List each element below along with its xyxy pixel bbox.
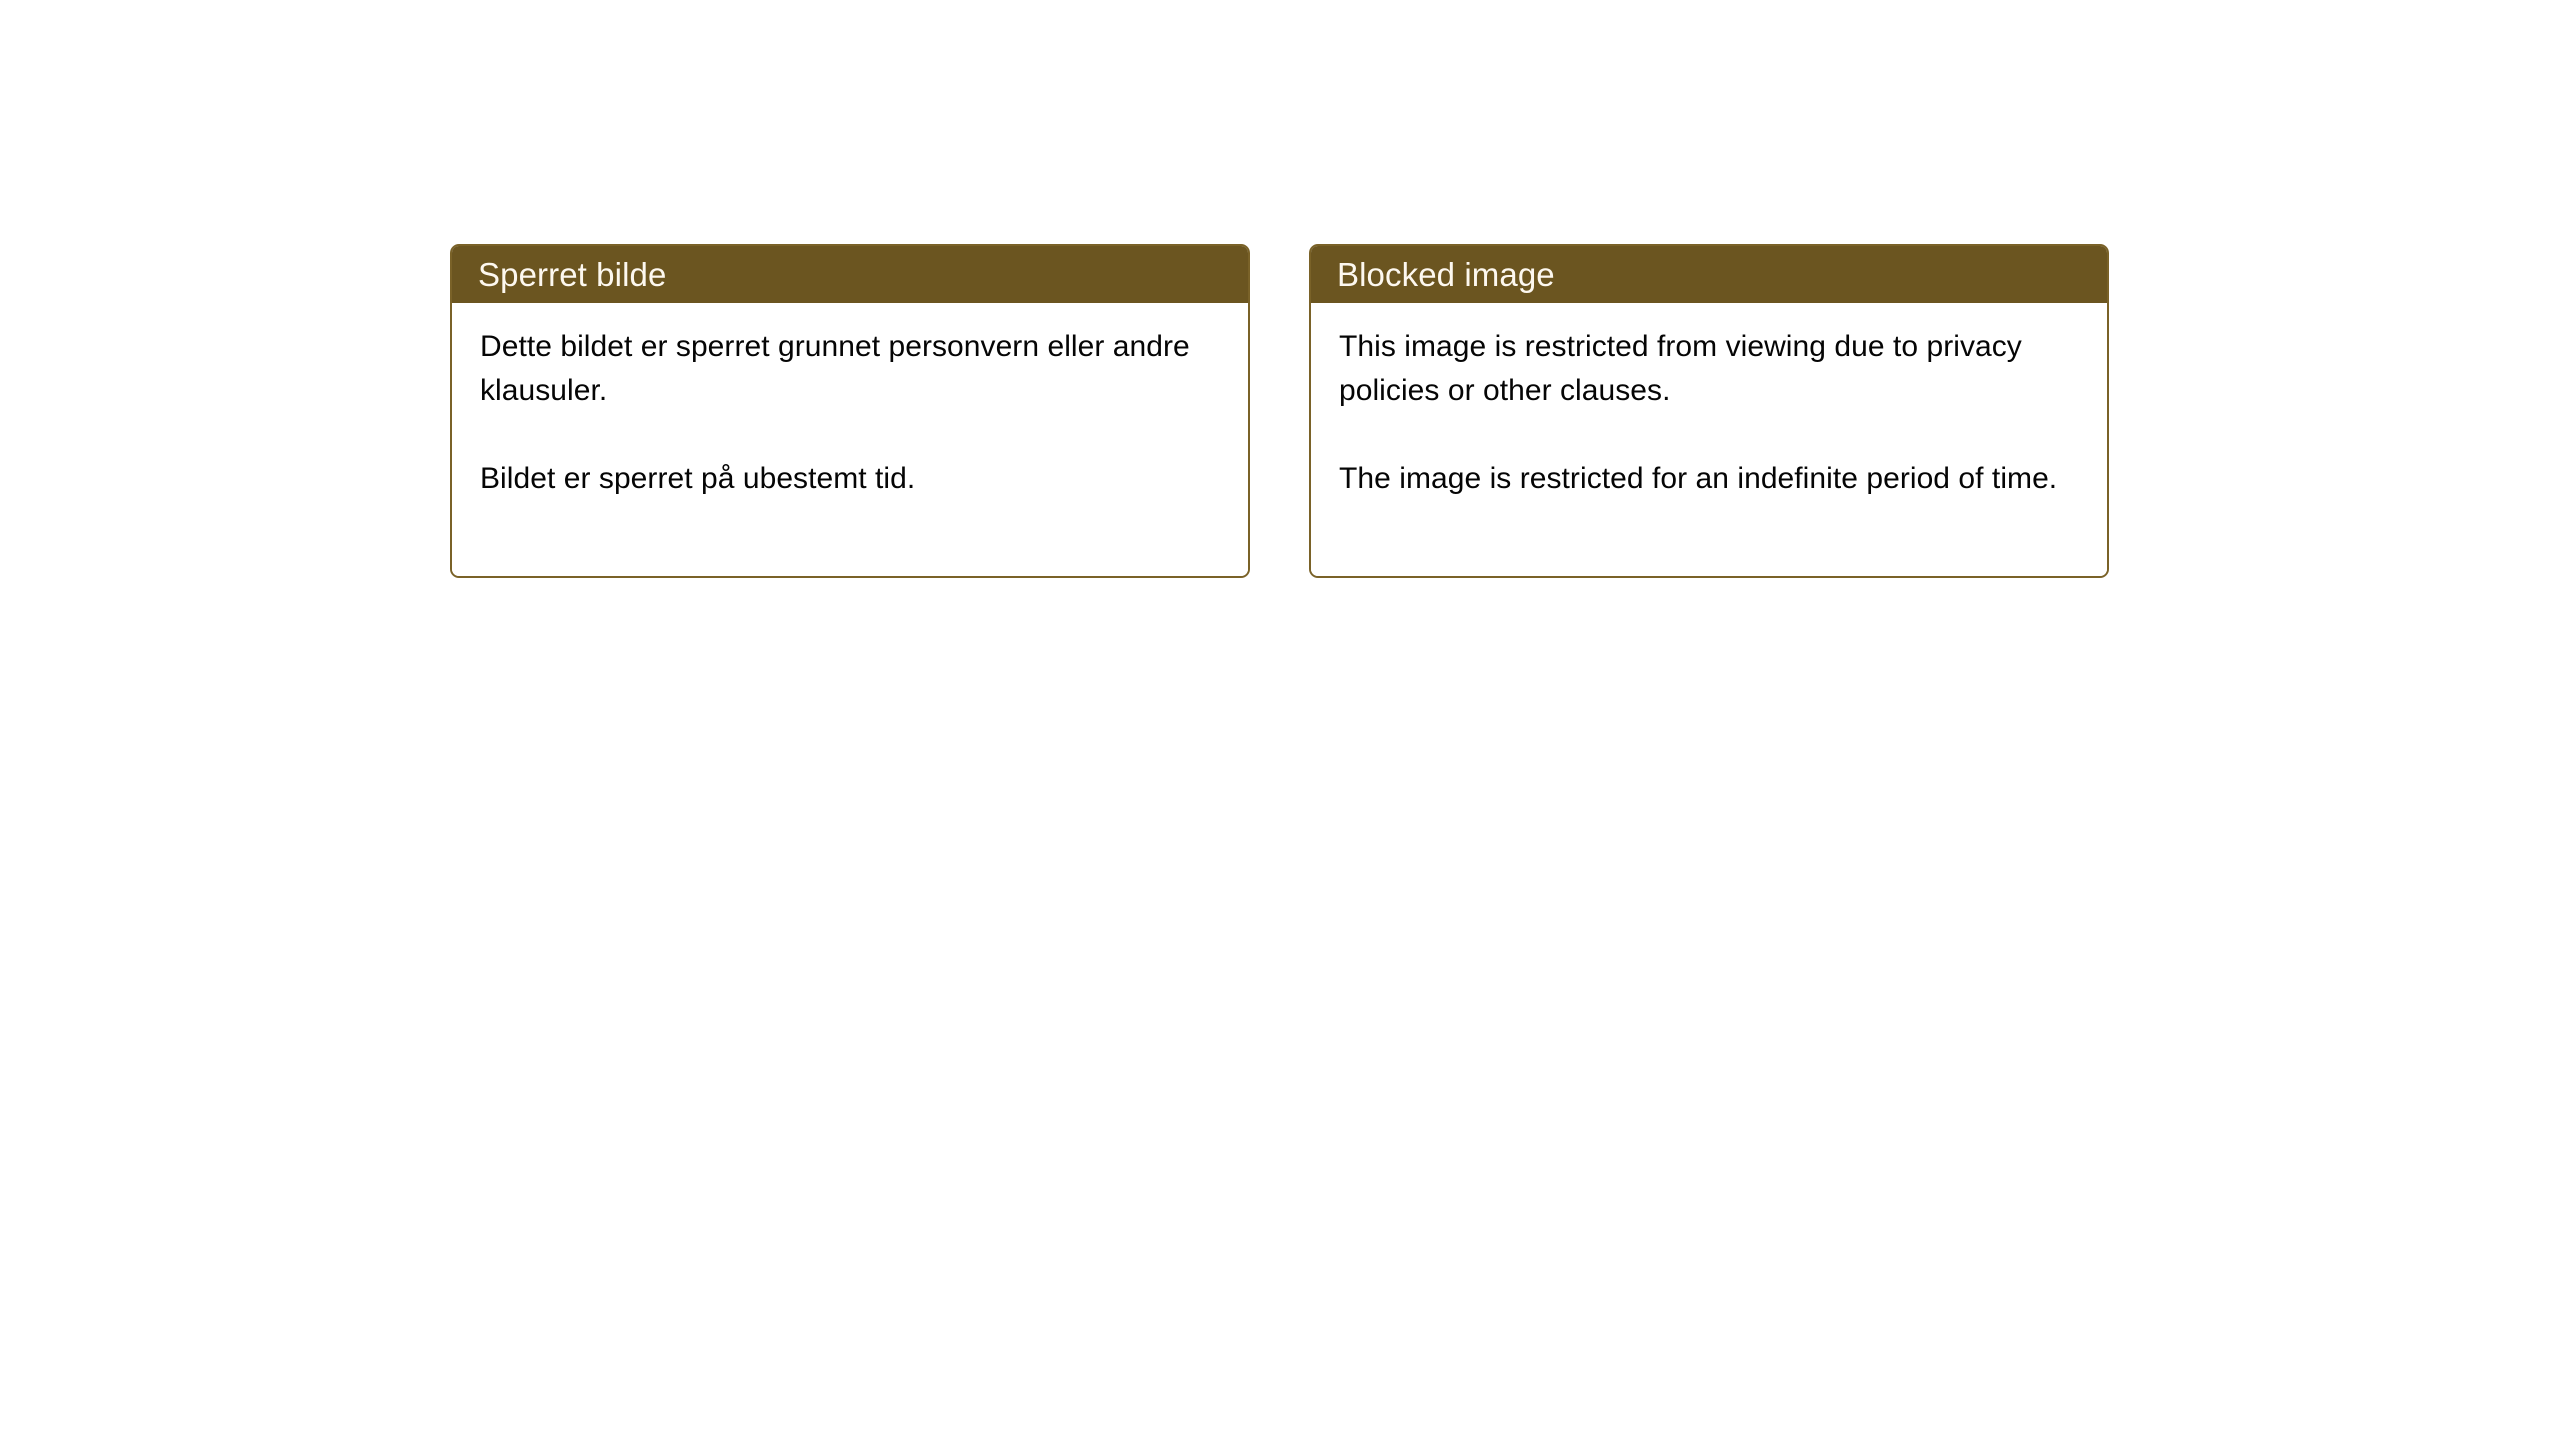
card-paragraph-reason-norwegian: Dette bildet er sperret grunnet personve… bbox=[480, 325, 1222, 413]
card-body-norwegian: Dette bildet er sperret grunnet personve… bbox=[452, 303, 1248, 576]
card-header-norwegian: Sperret bilde bbox=[452, 246, 1248, 303]
card-body-english: This image is restricted from viewing du… bbox=[1311, 303, 2107, 576]
card-title-norwegian: Sperret bilde bbox=[478, 258, 666, 291]
card-title-english: Blocked image bbox=[1337, 258, 1555, 291]
card-paragraph-duration-norwegian: Bildet er sperret på ubestemt tid. bbox=[480, 457, 1222, 501]
card-paragraph-reason-english: This image is restricted from viewing du… bbox=[1339, 325, 2081, 413]
card-paragraph-duration-english: The image is restricted for an indefinit… bbox=[1339, 457, 2081, 501]
blocked-image-card-english: Blocked image This image is restricted f… bbox=[1309, 244, 2109, 578]
blocked-image-notice-group: Sperret bilde Dette bildet er sperret gr… bbox=[450, 244, 2109, 578]
card-header-english: Blocked image bbox=[1311, 246, 2107, 303]
blocked-image-card-norwegian: Sperret bilde Dette bildet er sperret gr… bbox=[450, 244, 1250, 578]
